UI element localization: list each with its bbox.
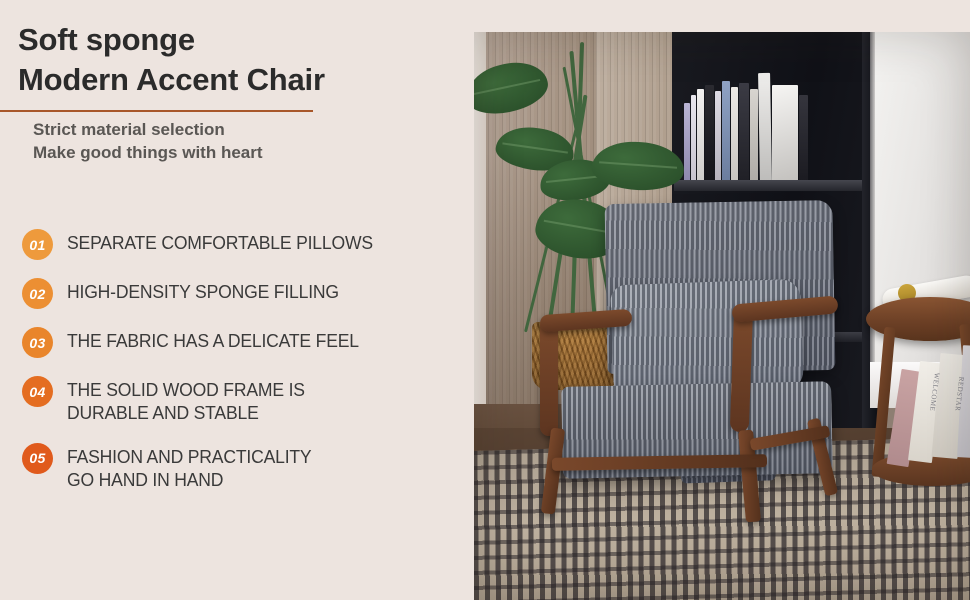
feature-item: 05 FASHION AND PRACTICALITY GO HAND IN H… <box>22 442 462 492</box>
chair-arm-left <box>540 316 558 436</box>
book-spine <box>731 87 738 181</box>
book-spine <box>758 73 772 181</box>
feature-label: THE SOLID WOOD FRAME IS DURABLE AND STAB… <box>67 375 305 425</box>
feature-label: SEPARATE COMFORTABLE PILLOWS <box>67 228 373 254</box>
lumbar-pillow <box>610 279 804 396</box>
infographic-page: Soft sponge Modern Accent Chair Strict m… <box>0 0 970 600</box>
title-line-2: Modern Accent Chair <box>18 60 458 100</box>
book-spine <box>722 81 730 181</box>
title-divider <box>0 110 313 112</box>
feature-item: 01 SEPARATE COMFORTABLE PILLOWS <box>22 228 462 260</box>
white-wall-edge <box>870 32 875 404</box>
feature-number-badge: 04 <box>22 376 53 407</box>
book-spine <box>772 85 798 181</box>
plant-leaf <box>474 56 552 120</box>
feature-number-badge: 01 <box>22 229 53 260</box>
feature-item: 03 THE FABRIC HAS A DELICATE FEEL <box>22 326 462 358</box>
feature-label: THE FABRIC HAS A DELICATE FEEL <box>67 326 359 352</box>
title-line-1: Soft sponge <box>18 20 458 60</box>
feature-list: 01 SEPARATE COMFORTABLE PILLOWS 02 HIGH-… <box>22 228 462 508</box>
subtitle-line-2: Make good things with heart <box>33 141 453 164</box>
left-text-panel: Soft sponge Modern Accent Chair Strict m… <box>0 0 474 600</box>
feature-number-badge: 03 <box>22 327 53 358</box>
page-title: Soft sponge Modern Accent Chair <box>18 20 458 101</box>
bookshelf-books-upper <box>684 62 854 181</box>
feature-number-badge: 05 <box>22 443 53 474</box>
product-photo: WELCOME REDSTAR <box>474 32 970 600</box>
feature-label: FASHION AND PRACTICALITY GO HAND IN HAND <box>67 442 311 492</box>
bookshelf-board-upper <box>674 180 878 191</box>
feature-label: HIGH-DENSITY SPONGE FILLING <box>67 277 339 303</box>
book-spine <box>715 91 721 181</box>
subtitle-line-1: Strict material selection <box>33 118 453 141</box>
book-spine <box>705 85 714 181</box>
feature-item: 04 THE SOLID WOOD FRAME IS DURABLE AND S… <box>22 375 462 425</box>
book-spine <box>750 89 758 181</box>
book-spine <box>739 83 749 181</box>
subtitle: Strict material selection Make good thin… <box>33 118 453 165</box>
book-spine <box>799 95 808 181</box>
feature-item: 02 HIGH-DENSITY SPONGE FILLING <box>22 277 462 309</box>
feature-number-badge: 02 <box>22 278 53 309</box>
